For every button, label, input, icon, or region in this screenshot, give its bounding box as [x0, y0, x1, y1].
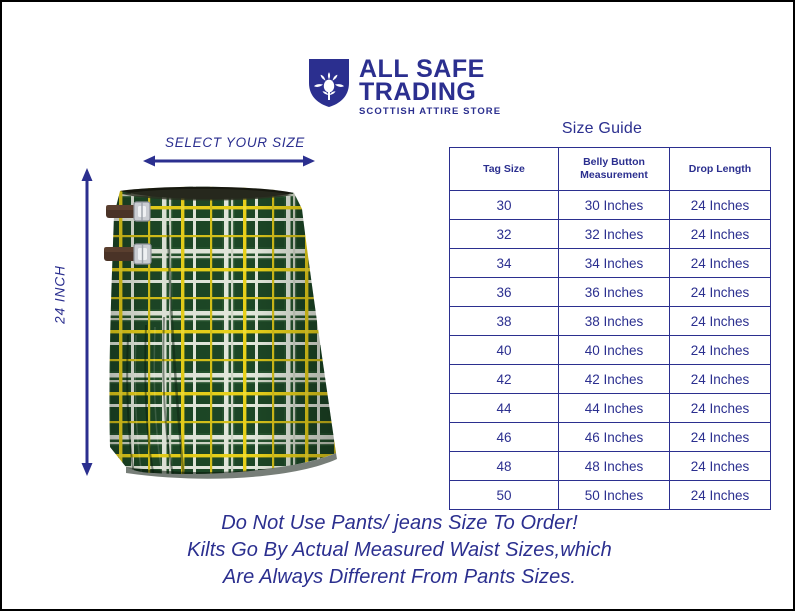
brand-logo: ALL SAFE TRADING SCOTTISH ATTIRE STORE — [307, 57, 507, 117]
select-your-size-label: SELECT YOUR SIZE — [150, 135, 320, 150]
cell-drop-length: 24 Inches — [670, 394, 771, 423]
size-guide-page: ALL SAFE TRADING SCOTTISH ATTIRE STORE S… — [0, 0, 795, 611]
cell-tag-size: 40 — [450, 336, 559, 365]
cell-tag-size: 50 — [450, 481, 559, 510]
cell-tag-size: 44 — [450, 394, 559, 423]
height-double-arrow-icon — [80, 168, 94, 476]
cell-belly-button: 32 Inches — [559, 220, 670, 249]
brand-line-2: TRADING — [359, 81, 501, 104]
cell-drop-length: 24 Inches — [670, 249, 771, 278]
cell-tag-size: 32 — [450, 220, 559, 249]
table-row: 32 32 Inches 24 Inches — [450, 220, 771, 249]
cell-drop-length: 24 Inches — [670, 365, 771, 394]
brand-wordmark: ALL SAFE TRADING SCOTTISH ATTIRE STORE — [359, 57, 501, 119]
table-row: 44 44 Inches 24 Inches — [450, 394, 771, 423]
size-guide-title: Size Guide — [449, 120, 755, 138]
cell-belly-button: 30 Inches — [559, 191, 670, 220]
table-body: 30 30 Inches 24 Inches 32 32 Inches 24 I… — [450, 191, 771, 510]
cell-tag-size: 38 — [450, 307, 559, 336]
header-belly-button-measurement: Belly Button Measurement — [559, 148, 670, 191]
notice-line-1: Do Not Use Pants/ jeans Size To Order! — [2, 510, 795, 537]
header-tag-size: Tag Size — [450, 148, 559, 191]
table-row: 38 38 Inches 24 Inches — [450, 307, 771, 336]
cell-belly-button: 48 Inches — [559, 452, 670, 481]
size-guide-table: Tag Size Belly Button Measurement Drop L… — [449, 147, 771, 510]
cell-belly-button: 38 Inches — [559, 307, 670, 336]
kilt-strap-lower — [104, 244, 151, 264]
cell-belly-button: 40 Inches — [559, 336, 670, 365]
notice-line-3: Are Always Different From Pants Sizes. — [2, 564, 795, 591]
table-row: 46 46 Inches 24 Inches — [450, 423, 771, 452]
cell-tag-size: 48 — [450, 452, 559, 481]
cell-tag-size: 34 — [450, 249, 559, 278]
cell-belly-button: 36 Inches — [559, 278, 670, 307]
table-row: 42 42 Inches 24 Inches — [450, 365, 771, 394]
cell-tag-size: 42 — [450, 365, 559, 394]
cell-drop-length: 24 Inches — [670, 452, 771, 481]
cell-tag-size: 36 — [450, 278, 559, 307]
cell-drop-length: 24 Inches — [670, 191, 771, 220]
cell-drop-length: 24 Inches — [670, 220, 771, 249]
cell-belly-button: 44 Inches — [559, 394, 670, 423]
kilt-product-image — [98, 185, 343, 487]
header-drop-length: Drop Length — [670, 148, 771, 191]
table-row: 36 36 Inches 24 Inches — [450, 278, 771, 307]
table-row: 40 40 Inches 24 Inches — [450, 336, 771, 365]
cell-drop-length: 24 Inches — [670, 278, 771, 307]
table-row: 50 50 Inches 24 Inches — [450, 481, 771, 510]
shield-thistle-icon — [307, 57, 351, 109]
cell-drop-length: 24 Inches — [670, 423, 771, 452]
width-double-arrow-icon — [143, 154, 315, 168]
cell-drop-length: 24 Inches — [670, 336, 771, 365]
cell-drop-length: 24 Inches — [670, 307, 771, 336]
table-row: 48 48 Inches 24 Inches — [450, 452, 771, 481]
cell-belly-button: 34 Inches — [559, 249, 670, 278]
order-notice: Do Not Use Pants/ jeans Size To Order! K… — [2, 510, 795, 591]
brand-tagline: SCOTTISH ATTIRE STORE — [359, 105, 501, 119]
cell-tag-size: 46 — [450, 423, 559, 452]
cell-tag-size: 30 — [450, 191, 559, 220]
cell-belly-button: 50 Inches — [559, 481, 670, 510]
cell-drop-length: 24 Inches — [670, 481, 771, 510]
table-row: 30 30 Inches 24 Inches — [450, 191, 771, 220]
notice-line-2: Kilts Go By Actual Measured Waist Sizes,… — [2, 537, 795, 564]
height-measure-label: 24 INCH — [53, 235, 68, 355]
table-header-row: Tag Size Belly Button Measurement Drop L… — [450, 148, 771, 191]
cell-belly-button: 46 Inches — [559, 423, 670, 452]
table-row: 34 34 Inches 24 Inches — [450, 249, 771, 278]
cell-belly-button: 42 Inches — [559, 365, 670, 394]
